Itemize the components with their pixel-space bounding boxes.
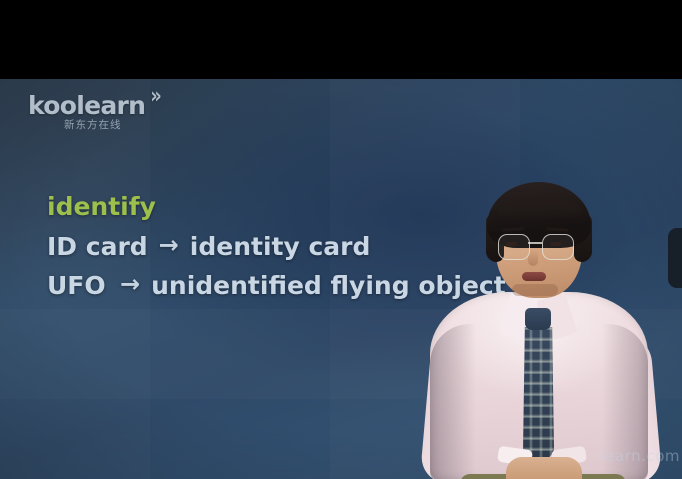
slide-row-0-expansion: identity card [190, 227, 371, 266]
koolearn-logo: koolearn » 新东方在线 [28, 93, 145, 131]
logo-subtitle: 新东方在线 [64, 120, 145, 131]
site-watermark: learn.com [601, 447, 680, 465]
slide-stage: koolearn » 新东方在线 identify ID card → iden… [0, 79, 682, 479]
presenter-hands [506, 457, 582, 479]
chevron-right-icon: » [150, 86, 161, 108]
presenter-glasses-lens-left [498, 234, 530, 260]
side-panel-handle[interactable] [668, 228, 682, 288]
presenter-mouth [522, 272, 546, 281]
arrow-right-icon: → [159, 226, 179, 265]
logo-wordmark-text: koolearn [28, 91, 145, 120]
presenter-chin-shadow [512, 284, 558, 296]
video-player[interactable]: koolearn » 新东方在线 identify ID card → iden… [0, 0, 682, 479]
presenter-hair-fringe [498, 198, 582, 220]
presenter-eye-right [550, 242, 561, 246]
slide-row-0-term: ID card [47, 227, 148, 266]
presenter-figure [424, 174, 662, 479]
presenter-necktie-knot [525, 308, 551, 330]
arrow-right-icon: → [120, 265, 140, 304]
presenter-glasses-lens-right [542, 234, 574, 260]
presenter-glasses-bridge [528, 242, 542, 244]
presenter-shirt-shadow-left [430, 324, 476, 479]
presenter-eye-left [506, 242, 517, 246]
slide-headword: identify [47, 187, 156, 226]
letterbox-bar-top [0, 0, 682, 79]
logo-wordmark: koolearn » [28, 93, 145, 118]
slide-row-1-term: UFO [47, 266, 109, 305]
presenter-necktie [523, 327, 554, 469]
